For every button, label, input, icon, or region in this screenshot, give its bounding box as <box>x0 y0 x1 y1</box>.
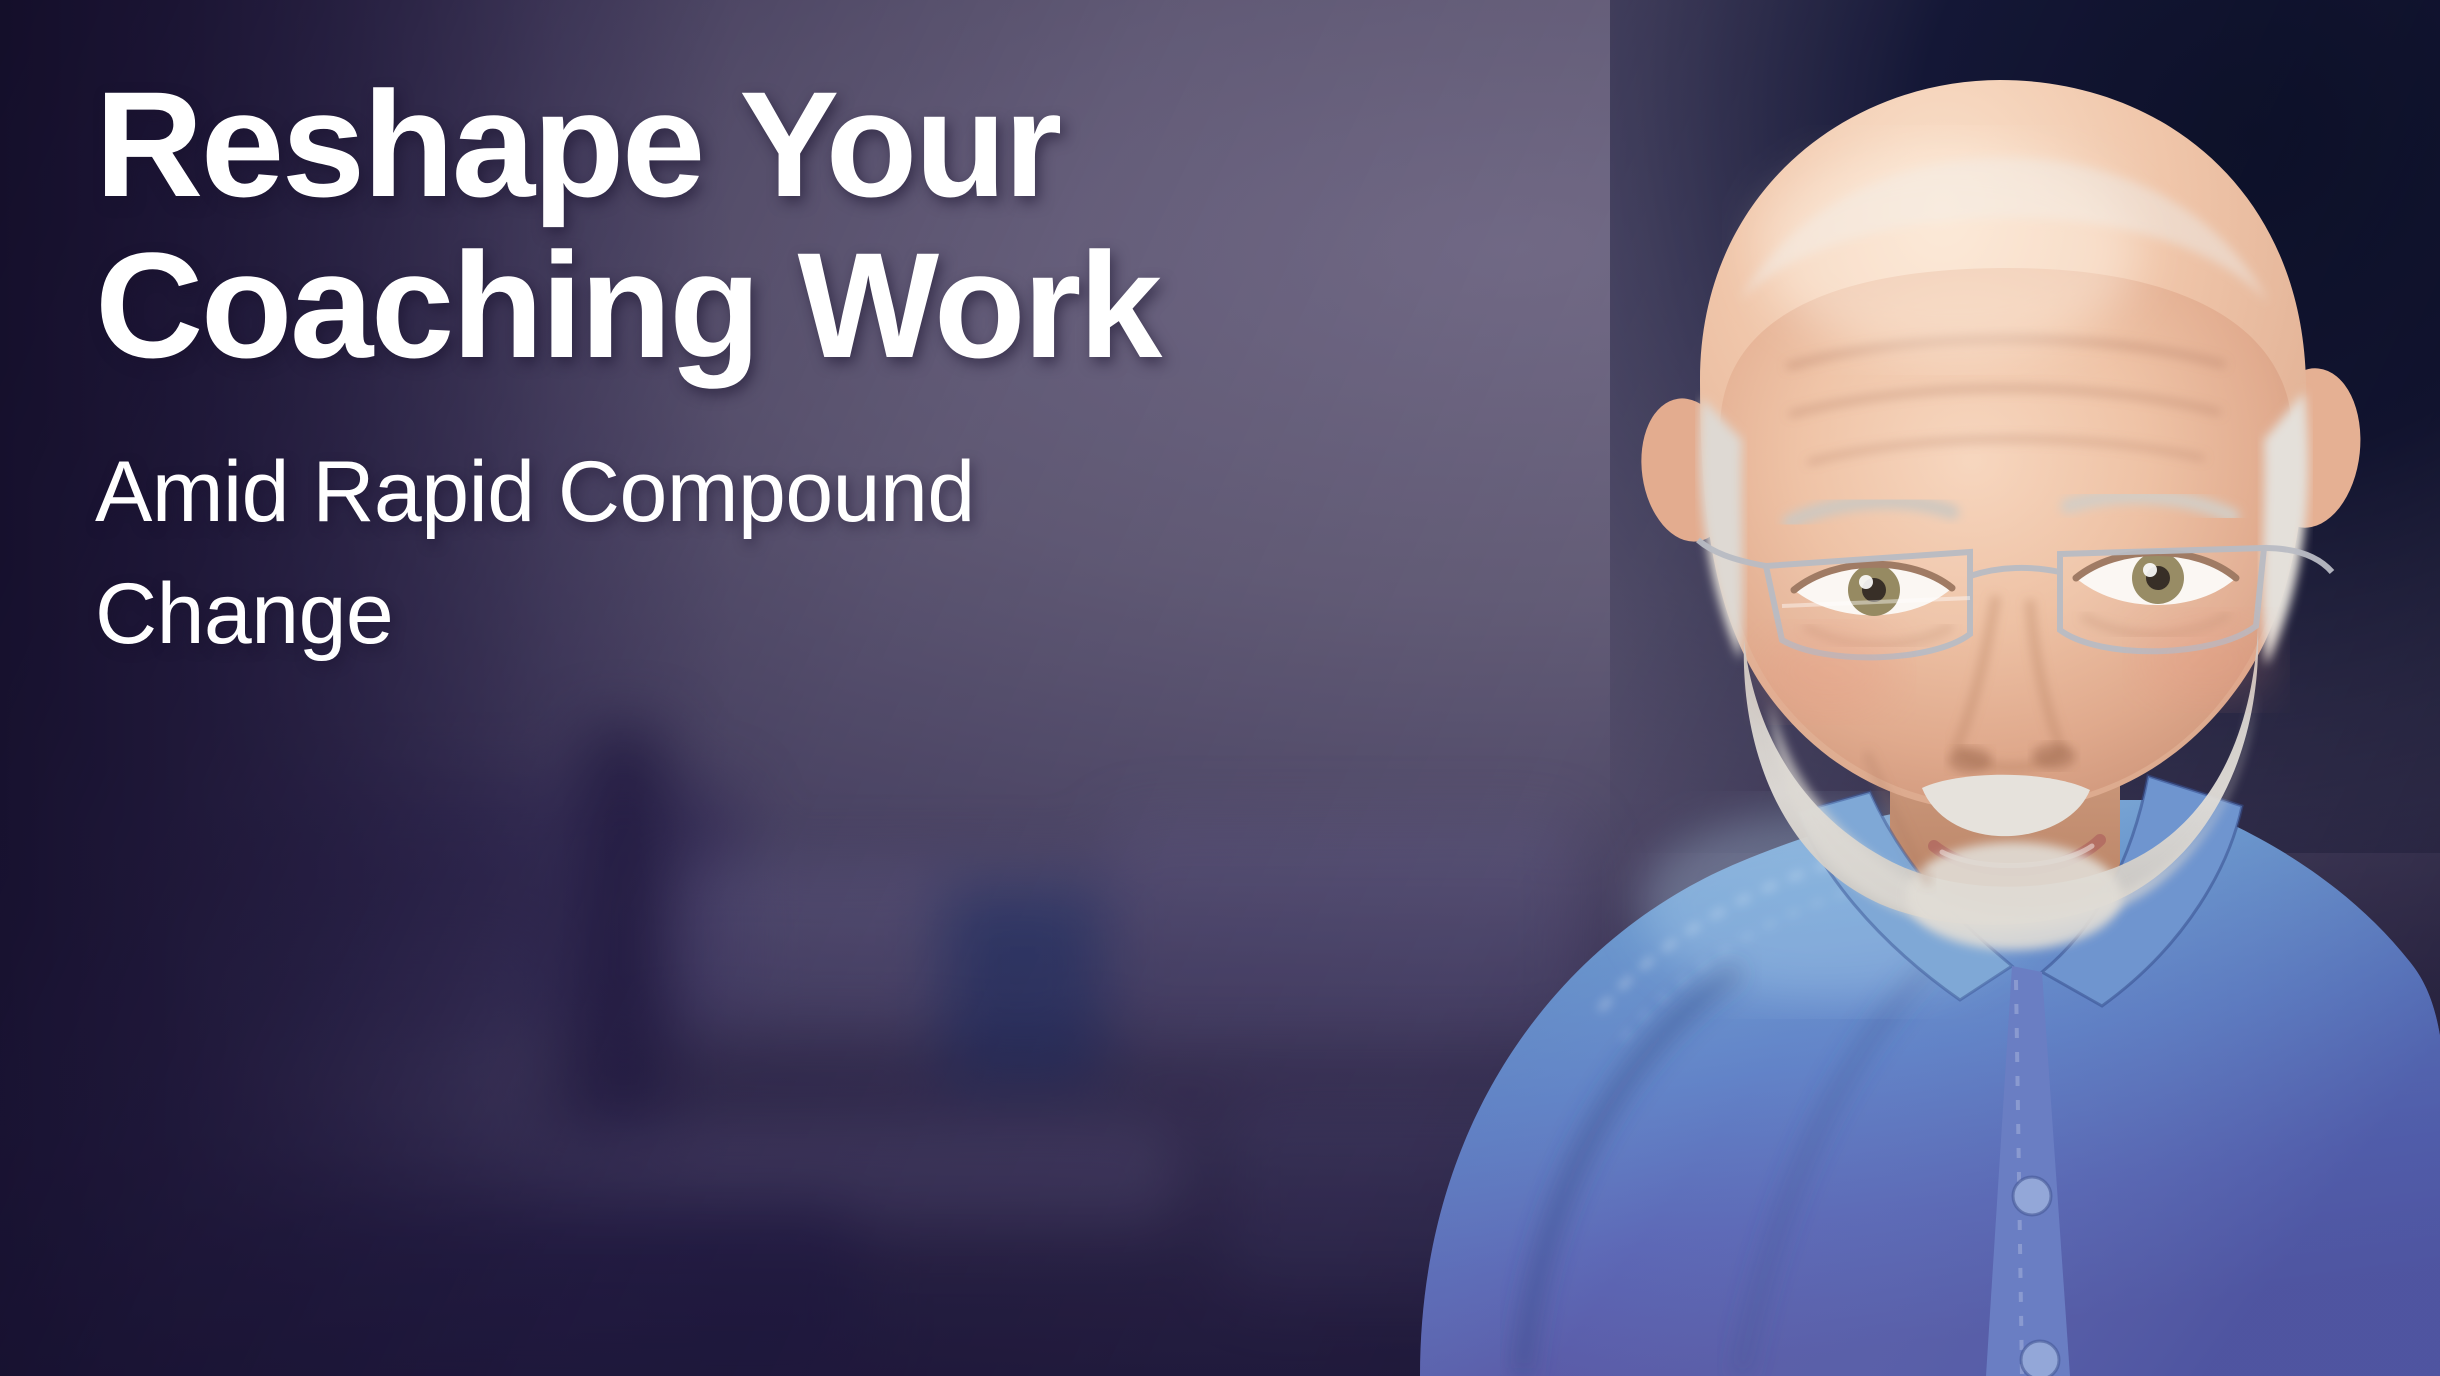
promo-banner: Reshape Your Coaching Work Amid Rapid Co… <box>0 0 2440 1376</box>
banner-copy: Reshape Your Coaching Work Amid Rapid Co… <box>95 64 1355 675</box>
page-subtitle: Amid Rapid Compound Change <box>95 431 1115 675</box>
page-title: Reshape Your Coaching Work <box>95 64 1355 385</box>
